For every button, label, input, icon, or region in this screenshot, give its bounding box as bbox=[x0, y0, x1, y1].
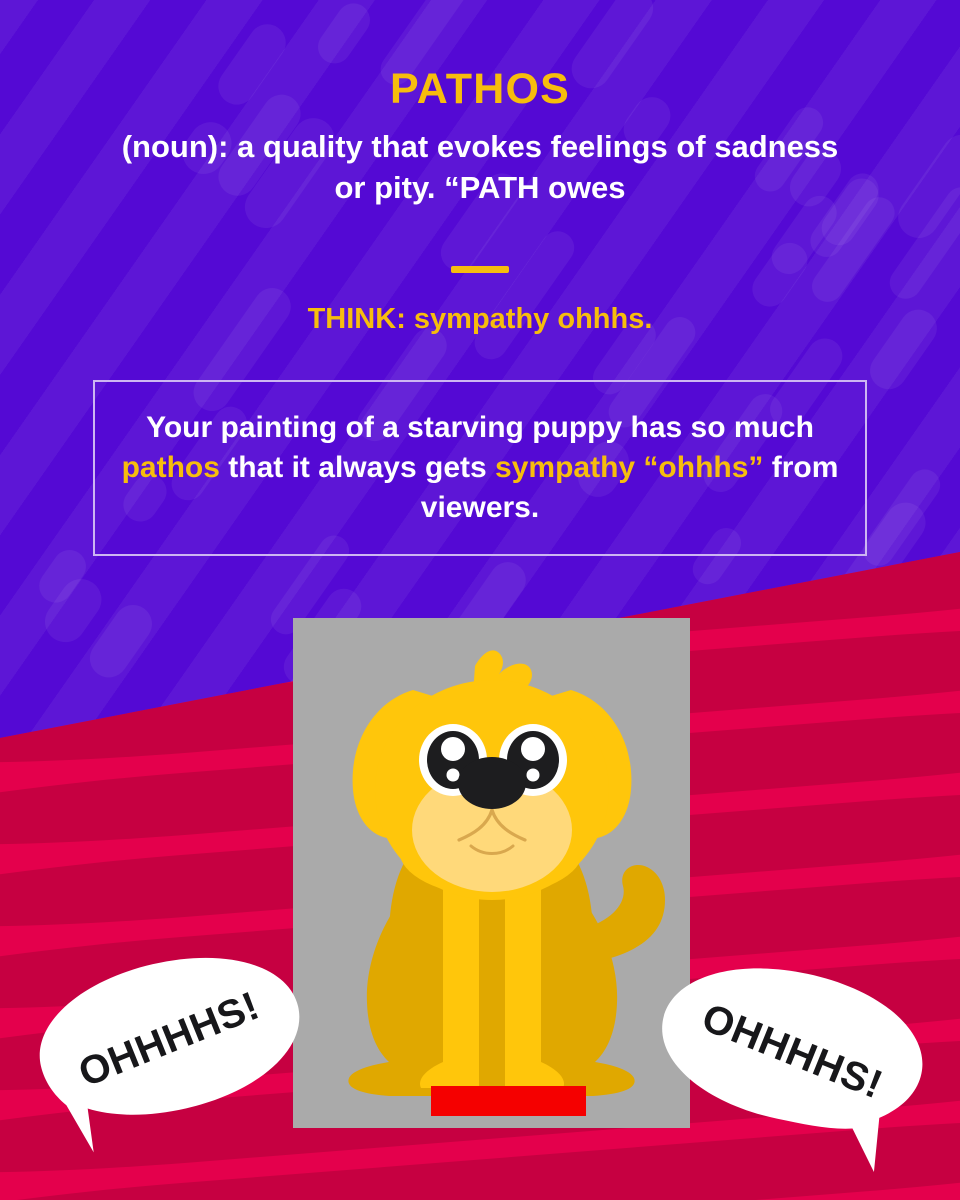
page-title: PATHOS bbox=[60, 66, 900, 113]
purple-capsule-dash bbox=[311, 0, 376, 70]
purple-capsule-dash bbox=[469, 225, 581, 366]
painting-frame bbox=[293, 618, 690, 1128]
example-highlight-1: pathos bbox=[122, 451, 220, 484]
dog-nose bbox=[458, 757, 526, 809]
gold-divider bbox=[451, 266, 509, 273]
example-sentence: Your painting of a starving puppy has so… bbox=[95, 408, 865, 528]
header-block: PATHOS (noun): a quality that evokes fee… bbox=[0, 66, 960, 208]
example-highlight-2: sympathy “ohhhs” bbox=[495, 451, 763, 484]
think-mnemonic: THINK: sympathy ohhhs. bbox=[0, 303, 960, 336]
example-part-2: that it always gets bbox=[220, 451, 495, 484]
example-sentence-box: Your painting of a starving puppy has so… bbox=[93, 380, 867, 556]
poster-canvas: PATHOS (noun): a quality that evokes fee… bbox=[0, 0, 960, 1200]
sad-puppy-illustration bbox=[293, 618, 690, 1128]
example-part-1: Your painting of a starving puppy has so… bbox=[146, 411, 814, 444]
red-plaque-bar bbox=[431, 1086, 586, 1116]
definition-text: (noun): a quality that evokes feelings o… bbox=[60, 127, 900, 208]
